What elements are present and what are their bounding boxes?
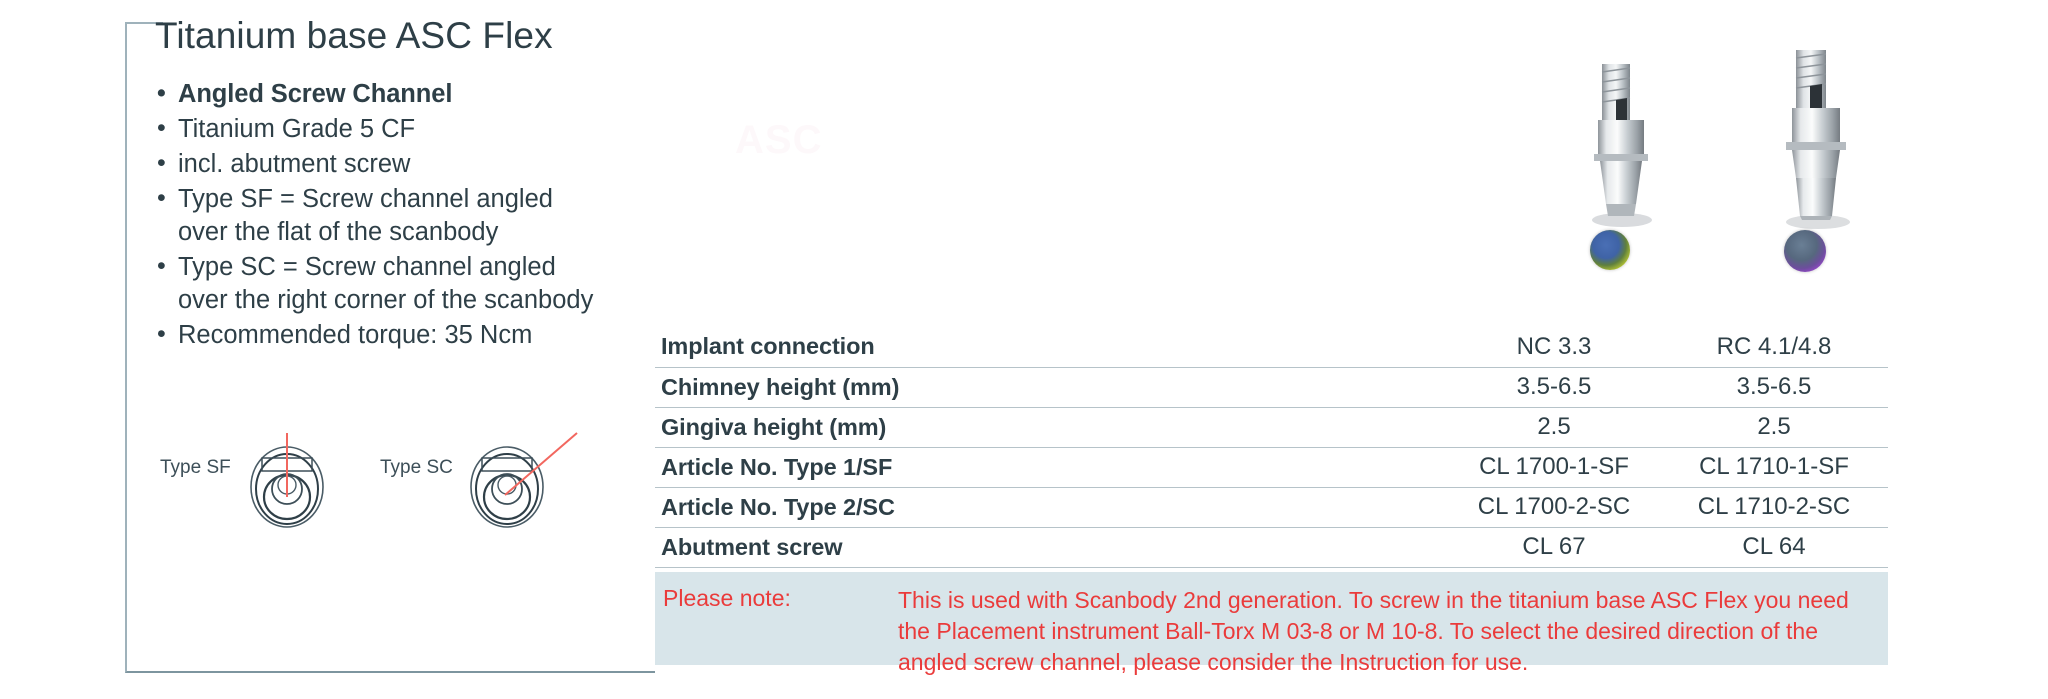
type-sc-label: Type SC [380,457,453,479]
abutment-rc-icon [1752,42,1882,232]
row-value-rc: CL 1710-2-SC [1660,487,1888,527]
row-label: Chimney height (mm) [655,367,1448,407]
row-value-rc: 3.5-6.5 [1660,367,1888,407]
page-title: Titanium base ASC Flex [155,15,553,57]
row-label: Article No. Type 2/SC [655,487,1448,527]
row-label: Implant connection [655,327,1448,367]
table-row: Implant connection NC 3.3 RC 4.1/4.8 [655,327,1888,367]
scanbody-cross-section-sf-icon [235,425,345,540]
product-photo-rc [1752,42,1882,237]
row-value-rc: CL 64 [1660,527,1888,567]
row-value-nc: NC 3.3 [1448,327,1660,367]
row-value-nc: CL 1700-1-SF [1448,447,1660,487]
list-item: Angled Screw Channel [156,78,596,111]
type-sf-label: Type SF [160,457,231,479]
specification-table: Implant connection NC 3.3 RC 4.1/4.8 Chi… [655,327,1888,568]
product-photo-nc [1560,58,1680,233]
scanbody-cross-section-sc-icon [455,425,595,540]
row-label: Abutment screw [655,527,1448,567]
table-row: Article No. Type 1/SF CL 1700-1-SF CL 17… [655,447,1888,487]
row-value-nc: CL 67 [1448,527,1660,567]
note-label: Please note: [663,585,791,612]
row-value-nc: CL 1700-2-SC [1448,487,1660,527]
row-value-nc: 2.5 [1448,407,1660,447]
row-value-rc: RC 4.1/4.8 [1660,327,1888,367]
table-row: Article No. Type 2/SC CL 1700-2-SC CL 17… [655,487,1888,527]
note-text: This is used with Scanbody 2nd generatio… [898,585,1883,678]
list-item: Recommended torque: 35 Ncm [156,319,596,352]
list-item: Type SC = Screw channel angled over the … [156,251,596,317]
row-label: Gingiva height (mm) [655,407,1448,447]
watermark-text: ASC [735,118,822,163]
row-label: Article No. Type 1/SF [655,447,1448,487]
list-item: Titanium Grade 5 CF [156,113,596,146]
table-row: Abutment screw CL 67 CL 64 [655,527,1888,567]
row-value-nc: 3.5-6.5 [1448,367,1660,407]
list-item: Type SF = Screw channel angled over the … [156,183,596,249]
list-item: incl. abutment screw [156,148,596,181]
feature-list: Angled Screw Channel Titanium Grade 5 CF… [156,78,596,354]
connector-ring-rc-icon [1784,230,1826,272]
type-sf-diagram: Type SF [160,425,380,540]
row-value-rc: CL 1710-1-SF [1660,447,1888,487]
table-row: Gingiva height (mm) 2.5 2.5 [655,407,1888,447]
please-note-box: Please note: This is used with Scanbody … [655,572,1888,665]
connector-ring-nc-icon [1590,230,1630,270]
abutment-nc-icon [1560,58,1680,228]
table-row: Chimney height (mm) 3.5-6.5 3.5-6.5 [655,367,1888,407]
type-sc-diagram: Type SC [380,425,600,540]
row-value-rc: 2.5 [1660,407,1888,447]
screw-channel-diagrams: Type SF Type SC [160,425,630,540]
